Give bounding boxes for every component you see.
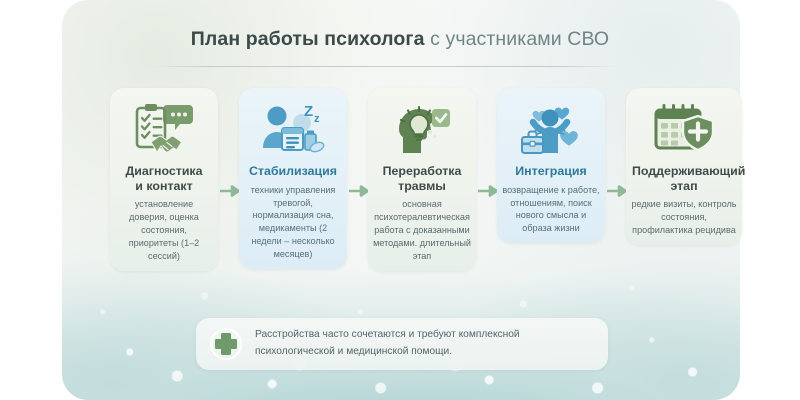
- calendar-shield-plus-icon: [630, 98, 738, 160]
- step-card-integraciya[interactable]: Интеграция возвращение к работе, отношен…: [497, 88, 605, 243]
- step-title-pererabotka-travmy: Переработка травмы: [374, 164, 470, 193]
- step-card-diagnostika[interactable]: Диагностика и контакт установление довер…: [110, 88, 218, 271]
- page-title-light: с участниками СВО: [430, 28, 609, 50]
- step-description-pererabotka-travmy: основная психотералевтическая работа с д…: [373, 198, 471, 263]
- step-title-podderzhivayushchiy-etap: Поддерживающий этап: [632, 164, 736, 193]
- footer-note-text: Расстройства часто сочетаются и требуют …: [255, 327, 520, 360]
- step-description-stabilizaciya: техники управления тревогой, нормализаци…: [244, 184, 342, 261]
- svg-text:z: z: [314, 113, 320, 125]
- footer-note-banner: Расстройства часто сочетаются и требуют …: [196, 318, 608, 370]
- page-title: План работы психолога с участниками СВО: [0, 28, 800, 51]
- arrow-right-icon: [220, 184, 240, 196]
- steps-row: Диагностика и контакт установление довер…: [110, 88, 696, 300]
- head-lightbulb-check-icon: [372, 98, 472, 160]
- title-divider: [152, 66, 616, 67]
- step-card-podderzhivayushchiy-etap[interactable]: Поддерживающий этап редкие визиты, контр…: [626, 88, 742, 245]
- person-sleep-medication-icon: Z z: [243, 98, 343, 160]
- arrow-right-icon: [349, 184, 369, 196]
- svg-text:Z: Z: [304, 103, 313, 120]
- celebrating-person-hearts-briefcase-icon: [501, 98, 601, 160]
- infographic-canvas: План работы психолога с участниками СВО: [0, 0, 800, 400]
- step-description-diagnostika: установление доверия, оценка состояния, …: [115, 198, 213, 263]
- arrow-right-icon: [478, 184, 498, 196]
- footer-note-line1: Расстройства часто сочетаются и требуют …: [255, 329, 520, 340]
- step-description-podderzhivayushchiy-etap: редкие визиты, контроль состояния, профи…: [631, 198, 737, 237]
- step-title-stabilizaciya: Стабилизация: [245, 164, 341, 179]
- footer-note-line2: психологической и медицинской помощи.: [255, 346, 452, 357]
- arrow-right-icon: [607, 184, 627, 196]
- step-description-integraciya: возвращение к работе, отношениям, поиск …: [502, 184, 600, 236]
- step-title-integraciya: Интеграция: [503, 164, 599, 179]
- step-title-diagnostika: Диагностика и контакт: [116, 164, 212, 193]
- medical-cross-icon: [210, 328, 242, 360]
- step-card-stabilizaciya[interactable]: Z z Стабилизац: [239, 88, 347, 269]
- page-title-strong: План работы психолога: [191, 28, 425, 50]
- step-card-pererabotka-travmy[interactable]: Переработка травмы основная психотералев…: [368, 88, 476, 271]
- clipboard-checklist-handshake-icon: [114, 98, 214, 160]
